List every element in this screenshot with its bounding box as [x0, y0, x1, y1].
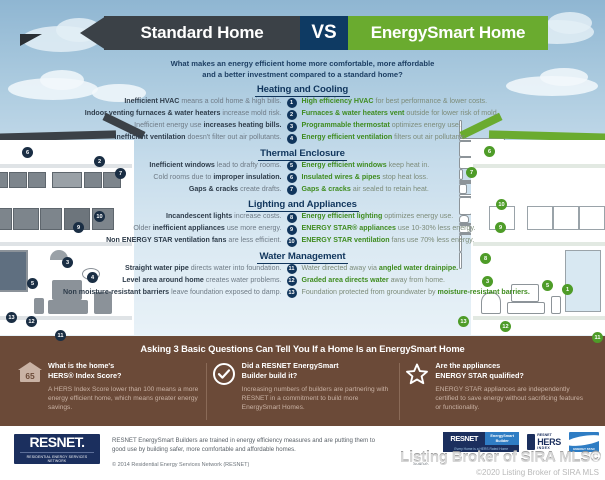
checkmark-circle-icon [212, 361, 238, 426]
footer-blurb: RESNET EnergySmart Builders are trained … [112, 437, 382, 455]
pin-standard-3: 3 [62, 257, 73, 268]
row-number-marker: 6 [287, 173, 297, 183]
energysmart-home-item: Energy efficient lighting optimizes ener… [297, 212, 549, 221]
question-heading: What is the home'sHERS® Index Score? [48, 361, 200, 381]
section-title-text: Water Management [257, 251, 347, 264]
pin-standard-12: 12 [26, 316, 37, 327]
infographic-page: 6 2 7 10 9 3 4 5 12 13 11 6 7 10 9 8 3 5… [0, 0, 605, 480]
pin-energysmart-8: 8 [480, 253, 491, 264]
vs-label: VS [311, 22, 336, 44]
row-number-marker: 13 [287, 288, 297, 298]
standard-home-item: Non ENERGY STAR ventilation fans are les… [57, 236, 287, 245]
question-heading-line-2: ENERGY STAR qualified? [435, 371, 587, 381]
vs-badge: VS [300, 16, 348, 50]
title-banner: Standard Home VS EnergySmart Home [104, 16, 504, 50]
row-number-marker: 5 [287, 161, 297, 171]
pin-standard-10: 10 [94, 211, 105, 222]
row-number-marker: 12 [287, 276, 297, 286]
energysmart-home-item: Energy efficient windows keep heat in. [297, 161, 549, 170]
comparison-row: Cold rooms due to improper insulation.6I… [0, 173, 605, 184]
question-heading-line-2: HERS® Index Score? [48, 371, 200, 381]
comparison-row: Inefficient ventilation doesn't filter o… [0, 133, 605, 144]
comparison-row: Indoor venting furnaces & water heaters … [0, 109, 605, 120]
question-body: Are the appliancesENERGY STAR qualified?… [431, 361, 587, 426]
question-heading-line-1: Did a RESNET EnergySmart [242, 361, 394, 371]
energysmart-home-item: Foundation protected from groundwater by… [297, 288, 549, 297]
standard-home-item: Inefficient ventilation doesn't filter o… [57, 133, 287, 142]
section-title: Lighting and Appliances [0, 199, 605, 212]
comparison-row: Incandescent lights increase costs.8Ener… [0, 212, 605, 223]
banner-tail-left [20, 34, 42, 46]
resnet-builder-wordmark: RESNET [443, 432, 485, 445]
pin-standard-7: 7 [115, 168, 126, 179]
question-column: Did a RESNET EnergySmartBuilder build it… [206, 361, 400, 426]
pin-energysmart-3: 3 [482, 276, 493, 287]
energysmart-home-item: Graded area directs water away from home… [297, 276, 549, 285]
energysmart-home-item: ENERGY STAR® appliances use 10-30% less … [297, 224, 549, 233]
pin-standard-2: 2 [94, 156, 105, 167]
resnet-logo-subtitle: RESIDENTIAL ENERGY SERVICES NETWORK [20, 452, 94, 463]
comparison-section: Thermal EnclosureInefficient windows lea… [0, 148, 605, 196]
row-number-marker: 3 [287, 122, 297, 132]
pin-energysmart-13: 13 [458, 316, 469, 327]
energysmart-home-item: Furnaces & water heaters vent outside fo… [297, 109, 549, 118]
question-body: Did a RESNET EnergySmartBuilder build it… [238, 361, 394, 426]
watermark-secondary: ©2020 Listing Broker of SIRA MLS [476, 468, 599, 477]
question-body: What is the home'sHERS® Index Score?A HE… [44, 361, 200, 426]
section-title-text: Lighting and Appliances [246, 199, 359, 212]
comparison-row: Gaps & cracks create drafts.7Gaps & crac… [0, 185, 605, 196]
standard-home-item: Gaps & cracks create drafts. [57, 185, 287, 194]
pin-standard-13: 13 [6, 312, 17, 323]
standard-home-item: Cold rooms due to improper insulation. [57, 173, 287, 182]
questions-columns: 65What is the home'sHERS® Index Score?A … [0, 354, 605, 426]
subheading-line-1: What makes an energy efficient home more… [0, 58, 605, 69]
question-heading-line-1: What is the home's [48, 361, 200, 371]
energysmart-home-item: ENERGY STAR ventilation fans use 70% les… [297, 236, 549, 245]
question-heading: Are the appliancesENERGY STAR qualified? [435, 361, 587, 381]
energysmart-lower-floor [473, 316, 605, 320]
section-rows: Inefficient windows lead to drafty rooms… [0, 161, 605, 196]
question-heading: Did a RESNET EnergySmartBuilder build it… [242, 361, 394, 381]
row-number-marker: 9 [287, 225, 297, 235]
energysmart-home-item: Insulated wires & pipes stop heat loss. [297, 173, 549, 182]
pin-energysmart-1: 1 [562, 284, 573, 295]
energysmart-home-item: Water directed away via angled water dra… [297, 264, 549, 273]
question-description: ENERGY STAR appliances are independently… [435, 385, 587, 413]
comparison-sections: Heating and CoolingInefficient HVAC mean… [0, 84, 605, 302]
question-heading-line-1: Are the appliances [435, 361, 587, 371]
pin-energysmart-6: 6 [484, 146, 495, 157]
footer-copyright: © 2014 Residential Energy Services Netwo… [112, 462, 382, 468]
standard-lower-floor [0, 316, 132, 320]
row-number-marker: 11 [287, 264, 297, 274]
pin-standard-4: 4 [87, 272, 98, 283]
standard-media-console [48, 300, 88, 314]
comparison-section: Lighting and AppliancesIncandescent ligh… [0, 199, 605, 247]
comparison-section: Heating and CoolingInefficient HVAC mean… [0, 84, 605, 144]
energysmart-home-banner: EnergySmart Home [348, 16, 548, 50]
energysmart-home-item: High efficiency HVAC for best performanc… [297, 97, 549, 106]
standard-home-item: Inefficient energy use increases heating… [57, 121, 287, 130]
standard-home-item: Non moisture-resistant barriers leave fo… [57, 288, 287, 297]
question-heading-line-2: Builder build it? [242, 371, 394, 381]
cloud-7 [548, 12, 592, 34]
subheading: What makes an energy efficient home more… [0, 58, 605, 80]
resnet-logo-wordmark: RESNET. [30, 435, 85, 449]
comparison-row: Inefficient windows lead to drafty rooms… [0, 161, 605, 172]
star-outline-icon [405, 361, 431, 426]
comparison-row: Older inefficient appliances use more en… [0, 224, 605, 235]
question-description: Increasing numbers of builders are partn… [242, 385, 394, 413]
hers-score-value: 65 [20, 369, 40, 382]
resnet-logo: RESNET. RESIDENTIAL ENERGY SERVICES NETW… [14, 434, 100, 464]
pin-energysmart-9: 9 [495, 222, 506, 233]
row-number-marker: 4 [287, 134, 297, 144]
standard-home-item: Indoor venting furnaces & water heaters … [57, 109, 287, 118]
section-title: Water Management [0, 251, 605, 264]
hers-bar-icon [527, 434, 535, 450]
energysmart-media-console [507, 302, 545, 314]
comparison-row: Inefficient energy use increases heating… [0, 121, 605, 132]
row-number-marker: 1 [287, 98, 297, 108]
energysmart-home-label: EnergySmart Home [371, 23, 526, 43]
energysmart-home-item: Gaps & cracks air sealed to retain heat. [297, 185, 549, 194]
standard-home-label: Standard Home [140, 23, 263, 43]
banner-arrow-left [80, 16, 106, 50]
energysmart-home-item: Energy efficient ventilation filters out… [297, 133, 549, 142]
pin-energysmart-11: 11 [592, 332, 603, 343]
pin-energysmart-12: 12 [500, 321, 511, 332]
section-title-text: Thermal Enclosure [258, 148, 347, 161]
section-rows: Inefficient HVAC means a cold home & hig… [0, 97, 605, 144]
pin-standard-5: 5 [27, 278, 38, 289]
pin-energysmart-5: 5 [542, 280, 553, 291]
standard-home-item: Older inefficient appliances use more en… [57, 224, 287, 233]
row-number-marker: 7 [287, 185, 297, 195]
energysmart-home-item: Programmable thermostat optimizes energy… [297, 121, 549, 130]
house-score-icon: 65 [18, 361, 44, 426]
resnet-builder-sub2: Builder [496, 439, 509, 443]
pin-energysmart-7: 7 [466, 167, 477, 178]
comparison-row: Inefficient HVAC means a cold home & hig… [0, 97, 605, 108]
questions-band: Asking 3 Basic Questions Can Tell You If… [0, 336, 605, 426]
row-number-marker: 2 [287, 110, 297, 120]
pin-standard-11: 11 [55, 330, 66, 341]
energy-star-sweep-icon [569, 433, 599, 448]
row-number-marker: 8 [287, 213, 297, 223]
watermark-primary: Listing Broker of SIRA MLS© [400, 449, 601, 466]
row-number-marker: 10 [287, 237, 297, 247]
section-title: Thermal Enclosure [0, 148, 605, 161]
section-title: Heating and Cooling [0, 84, 605, 97]
comparison-row: Non ENERGY STAR ventilation fans are les… [0, 236, 605, 247]
question-description: A HERS Index Score lower than 100 means … [48, 385, 200, 413]
pin-standard-6: 6 [22, 147, 33, 158]
standard-home-item: Inefficient HVAC means a cold home & hig… [57, 97, 287, 106]
pin-standard-9: 9 [73, 222, 84, 233]
standard-home-banner: Standard Home [104, 16, 300, 50]
pin-energysmart-10: 10 [496, 199, 507, 210]
section-rows: Incandescent lights increase costs.8Ener… [0, 212, 605, 247]
question-column: Are the appliancesENERGY STAR qualified?… [399, 361, 593, 426]
comparison-row: Non moisture-resistant barriers leave fo… [0, 288, 605, 299]
section-title-text: Heating and Cooling [255, 84, 350, 97]
subheading-line-2: and a better investment compared to a st… [0, 69, 605, 80]
question-column: 65What is the home'sHERS® Index Score?A … [12, 361, 206, 426]
questions-band-title: Asking 3 Basic Questions Can Tell You If… [0, 336, 605, 354]
standard-home-item: Incandescent lights increase costs. [57, 212, 287, 221]
hers-index-logo: RESNET HERS INDEX [527, 434, 561, 450]
standard-home-item: Inefficient windows lead to drafty rooms… [57, 161, 287, 170]
